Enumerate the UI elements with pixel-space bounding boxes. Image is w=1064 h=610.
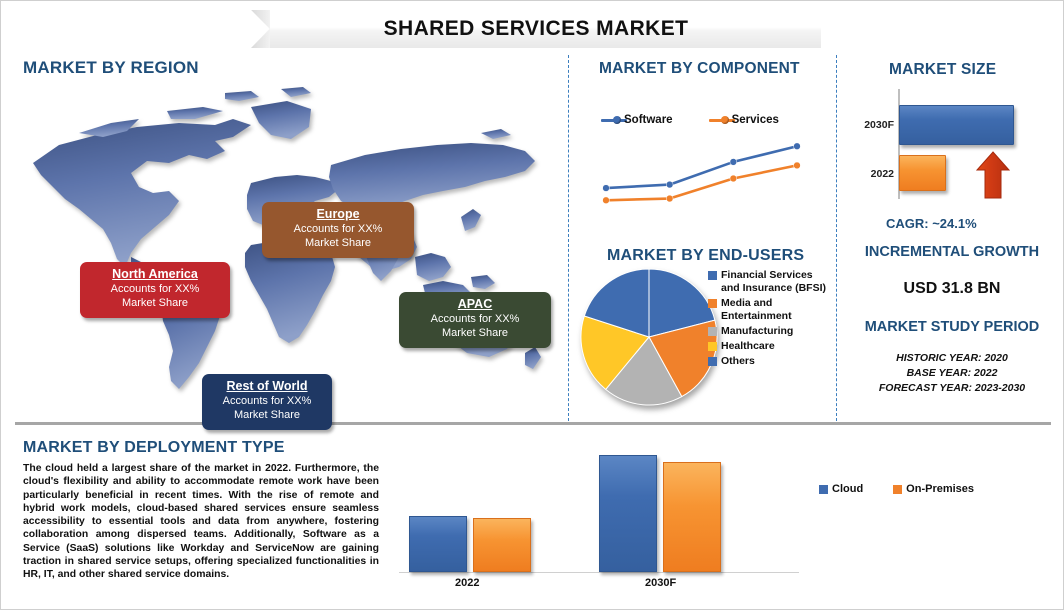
data-point (794, 143, 801, 150)
region-line-1: Accounts for XX% (212, 394, 322, 408)
world-map: North America Accounts for XX% Market Sh… (19, 81, 559, 411)
deployment-category-label: 2022 (455, 577, 479, 589)
region-label-apac: APAC Accounts for XX% Market Share (399, 292, 551, 348)
region-line-1: Accounts for XX% (409, 312, 541, 326)
legend-swatch (893, 485, 902, 494)
incremental-growth-heading: INCREMENTAL GROWTH (842, 244, 1062, 260)
deployment-paragraph: The cloud held a largest share of the ma… (23, 462, 379, 582)
section-heading-end-users: MARKET BY END-USERS (607, 247, 804, 265)
legend-item-cloud: Cloud (819, 483, 863, 495)
legend-label: Cloud (832, 483, 863, 495)
region-line-1: Accounts for XX% (90, 282, 220, 296)
data-point (794, 162, 801, 169)
divider-horizontal (15, 422, 1051, 425)
market-study-period-years: HISTORIC YEAR: 2020 BASE YEAR: 2022 FORE… (842, 351, 1062, 396)
title-banner: SHARED SERVICES MARKET (251, 10, 821, 48)
legend-item: Healthcare (708, 340, 843, 353)
legend-swatch (708, 271, 717, 280)
legend-item-on-premises: On-Premises (893, 483, 974, 495)
legend-label: Financial Servicesand Insurance (BFSI) (721, 269, 826, 295)
region-line-2: Market Share (409, 326, 541, 340)
component-line-chart (596, 133, 811, 219)
deployment-chart-legend: Cloud On-Premises (819, 483, 974, 495)
region-line-1: Accounts for XX% (272, 222, 404, 236)
legend-swatch (819, 485, 828, 494)
section-heading-region: MARKET BY REGION (23, 58, 199, 78)
growth-arrow-icon (976, 151, 1010, 199)
region-label-rest-of-world: Rest of World Accounts for XX% Market Sh… (202, 374, 332, 430)
data-point (730, 175, 737, 182)
legend-label: On-Premises (906, 483, 974, 495)
legend-item: Manufacturing (708, 325, 843, 338)
section-heading-market-size: MARKET SIZE (889, 61, 996, 79)
region-name: Rest of World (212, 379, 322, 394)
region-label-north-america: North America Accounts for XX% Market Sh… (80, 262, 230, 318)
market-size-category-2030: 2030F (848, 119, 894, 131)
legend-label: Software (624, 114, 673, 126)
legend-item: Media andEntertainment (708, 297, 843, 323)
end-users-pie-chart (577, 267, 721, 411)
region-line-2: Market Share (212, 408, 322, 422)
section-heading-component: MARKET BY COMPONENT (599, 60, 800, 78)
market-size-chart: 2030F 2022 (846, 89, 1061, 209)
data-point (603, 185, 610, 192)
legend-item-software: Software (601, 114, 673, 126)
region-name: North America (90, 267, 220, 282)
data-point (666, 195, 673, 202)
legend-swatch (708, 342, 717, 351)
legend-swatch (708, 299, 717, 308)
market-size-category-2022: 2022 (848, 168, 894, 180)
legend-label: Media andEntertainment (721, 297, 792, 323)
legend-label: Healthcare (721, 340, 775, 353)
deployment-category-label: 2030F (645, 577, 676, 589)
infographic-page: SHARED SERVICES MARKET MARKET BY REGION (0, 0, 1064, 610)
legend-dot-swatch (613, 116, 621, 124)
market-study-period-heading: MARKET STUDY PERIOD (842, 319, 1062, 335)
line-series-services (606, 165, 797, 200)
bar-on-premises-2030f (663, 462, 721, 572)
bar-cloud-2030f (599, 455, 657, 572)
region-label-europe: Europe Accounts for XX% Market Share (262, 202, 414, 258)
base-year: BASE YEAR: 2022 (842, 366, 1062, 381)
region-line-2: Market Share (90, 296, 220, 310)
data-point (730, 159, 737, 166)
forecast-year: FORECAST YEAR: 2023-2030 (842, 381, 1062, 396)
divider-vertical-left (568, 55, 569, 421)
legend-label: Manufacturing (721, 325, 793, 338)
data-point (666, 181, 673, 188)
legend-item-services: Services (709, 114, 779, 126)
market-size-bar-2022 (899, 155, 946, 191)
data-point (603, 197, 610, 204)
component-chart-legend: Software Services (601, 111, 831, 129)
region-line-2: Market Share (272, 236, 404, 250)
incremental-growth-value: USD 31.8 BN (842, 280, 1062, 298)
cagr-label: CAGR: ~24.1% (886, 216, 977, 231)
legend-swatch (708, 327, 717, 336)
deployment-bar-chart (399, 449, 814, 594)
region-name: Europe (272, 207, 404, 222)
historic-year: HISTORIC YEAR: 2020 (842, 351, 1062, 366)
bar-on-premises-2022 (473, 518, 531, 572)
market-size-bar-2030 (899, 105, 1014, 145)
line-series-software (606, 146, 797, 188)
region-name: APAC (409, 297, 541, 312)
legend-label: Services (732, 114, 779, 126)
end-users-legend: Financial Servicesand Insurance (BFSI)Me… (708, 269, 843, 370)
page-title: SHARED SERVICES MARKET (384, 17, 689, 41)
legend-item: Others (708, 355, 843, 368)
legend-label: Others (721, 355, 755, 368)
section-heading-deployment: MARKET BY DEPLOYMENT TYPE (23, 439, 285, 457)
legend-item: Financial Servicesand Insurance (BFSI) (708, 269, 843, 295)
pie-chart-svg (577, 267, 721, 411)
legend-dot-swatch (721, 116, 729, 124)
bar-cloud-2022 (409, 516, 467, 572)
legend-swatch (708, 357, 717, 366)
